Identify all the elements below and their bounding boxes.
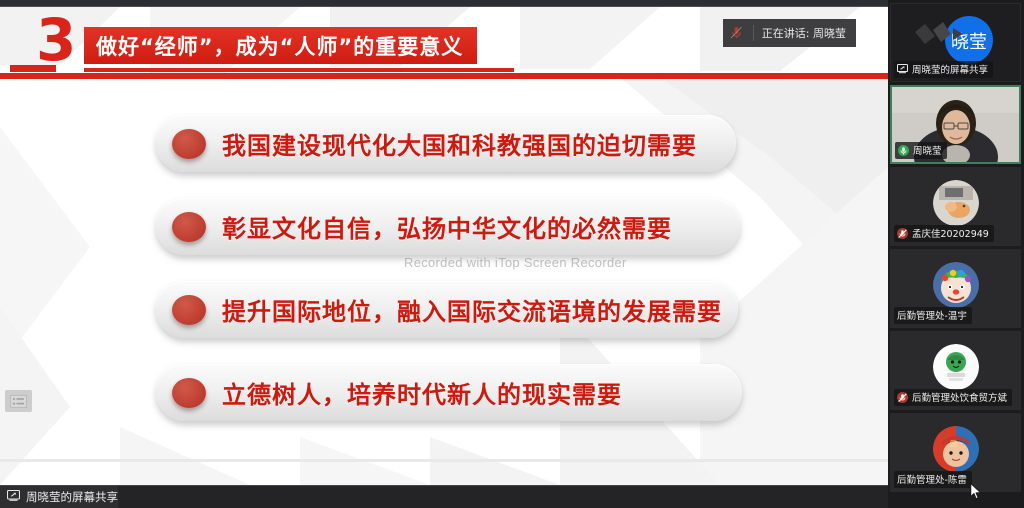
bullet-text: 我国建设现代化大国和科教强国的迫切需要 — [222, 126, 697, 161]
bullet-dot-icon — [172, 295, 206, 325]
participant-name-badge: 周晓莹的屏幕共享 — [894, 61, 993, 78]
avatar: 国 — [933, 426, 979, 472]
participant-name-badge: 周晓莹 — [895, 142, 947, 159]
participant-tile[interactable]: 后勤管理处-温宇 — [890, 249, 1021, 328]
status-bar-filler — [118, 486, 888, 508]
meeting-screen-share-window: 3 做好“经师”，成为“人师”的重要意义 我国建设现代化大国和科教强国的迫切需要… — [0, 0, 1024, 508]
bullet-dot-icon — [172, 212, 206, 242]
active-speaker-indicator: 正在讲话: 周晓莹 — [723, 19, 856, 47]
shared-window-titlebar — [0, 0, 888, 7]
screen-share-status-label: 周晓莹的屏幕共享 — [26, 489, 118, 505]
participant-name-badge: 孟庆佳20202949 — [894, 225, 994, 242]
screen-share-icon — [7, 488, 20, 506]
participant-tile-active-speaker[interactable]: 周晓莹 — [890, 85, 1021, 164]
participant-name: 后勤管理处-温宇 — [897, 308, 967, 322]
participant-name: 周晓莹 — [913, 143, 942, 157]
bullet-dot-icon — [172, 129, 206, 159]
shared-screen-area: 3 做好“经师”，成为“人师”的重要意义 我国建设现代化大国和科教强国的迫切需要… — [0, 0, 888, 508]
bullet-text: 提升国际地位，融入国际交流语境的发展需要 — [222, 292, 722, 327]
presentation-slide: 3 做好“经师”，成为“人师”的重要意义 我国建设现代化大国和科教强国的迫切需要… — [0, 7, 888, 485]
slide-title: 做好“经师”，成为“人师”的重要意义 — [96, 31, 463, 61]
bullet-text: 立德树人，培养时代新人的现实需要 — [222, 375, 622, 410]
slide-title-band: 做好“经师”，成为“人师”的重要意义 — [84, 27, 477, 64]
avatar — [933, 344, 979, 390]
mouse-cursor-icon — [970, 483, 982, 500]
participant-filmstrip[interactable]: 晓莹 周晓莹的屏幕共享 — [888, 0, 1024, 508]
participant-name: 后勤管理处-陈雷 — [897, 472, 967, 486]
pill-divider — [753, 25, 754, 41]
slide-bullet-item: 我国建设现代化大国和科教强国的迫切需要 — [156, 115, 736, 172]
slide-title-rule — [0, 73, 888, 79]
microphone-muted-icon — [897, 228, 908, 239]
bullet-text: 彰显文化自信，弘扬中华文化的必然需要 — [222, 209, 672, 244]
microphone-muted-icon — [897, 392, 908, 403]
slide-number: 3 — [36, 11, 74, 69]
participant-name-badge: 后勤管理处-陈雷 — [894, 471, 972, 488]
active-speaker-label: 正在讲话: 周晓莹 — [762, 25, 846, 41]
slide-title-rule-inner — [84, 68, 514, 72]
participant-tile-screenshare[interactable]: 晓莹 周晓莹的屏幕共享 — [890, 3, 1021, 82]
slide-bullet-item: 彰显文化自信，弘扬中华文化的必然需要 — [156, 198, 740, 255]
svg-text:国: 国 — [950, 440, 957, 448]
slide-bullet-list: 我国建设现代化大国和科教强国的迫切需要 彰显文化自信，弘扬中华文化的必然需要 提… — [0, 115, 888, 447]
avatar — [933, 180, 979, 226]
list-view-icon[interactable] — [5, 390, 32, 412]
slide-bullet-item: 提升国际地位，融入国际交流语境的发展需要 — [156, 281, 738, 338]
participant-tile[interactable]: 后勤管理处饮食贸方斌 — [890, 331, 1021, 410]
bullet-dot-icon — [172, 378, 206, 408]
avatar — [933, 262, 979, 308]
screen-share-status-inner: 周晓莹的屏幕共享 — [0, 486, 118, 508]
screen-share-icon — [897, 64, 908, 75]
microphone-on-icon — [898, 145, 909, 156]
participant-name: 周晓莹的屏幕共享 — [912, 62, 988, 76]
participant-tile[interactable]: 国 后勤管理处-陈雷 — [890, 413, 1021, 492]
participant-name-badge: 后勤管理处饮食贸方斌 — [894, 389, 1012, 406]
microphone-active-icon — [729, 25, 745, 41]
screen-share-status-bar: 周晓莹的屏幕共享 — [0, 485, 888, 508]
slide-bottom-edge — [0, 459, 888, 462]
participant-name-badge: 后勤管理处-温宇 — [894, 307, 972, 324]
slide-bullet-item: 立德树人，培养时代新人的现实需要 — [156, 364, 742, 421]
participant-tile[interactable]: 孟庆佳20202949 — [890, 167, 1021, 246]
participant-name: 孟庆佳20202949 — [912, 226, 989, 240]
participant-name: 后勤管理处饮食贸方斌 — [912, 390, 1007, 404]
